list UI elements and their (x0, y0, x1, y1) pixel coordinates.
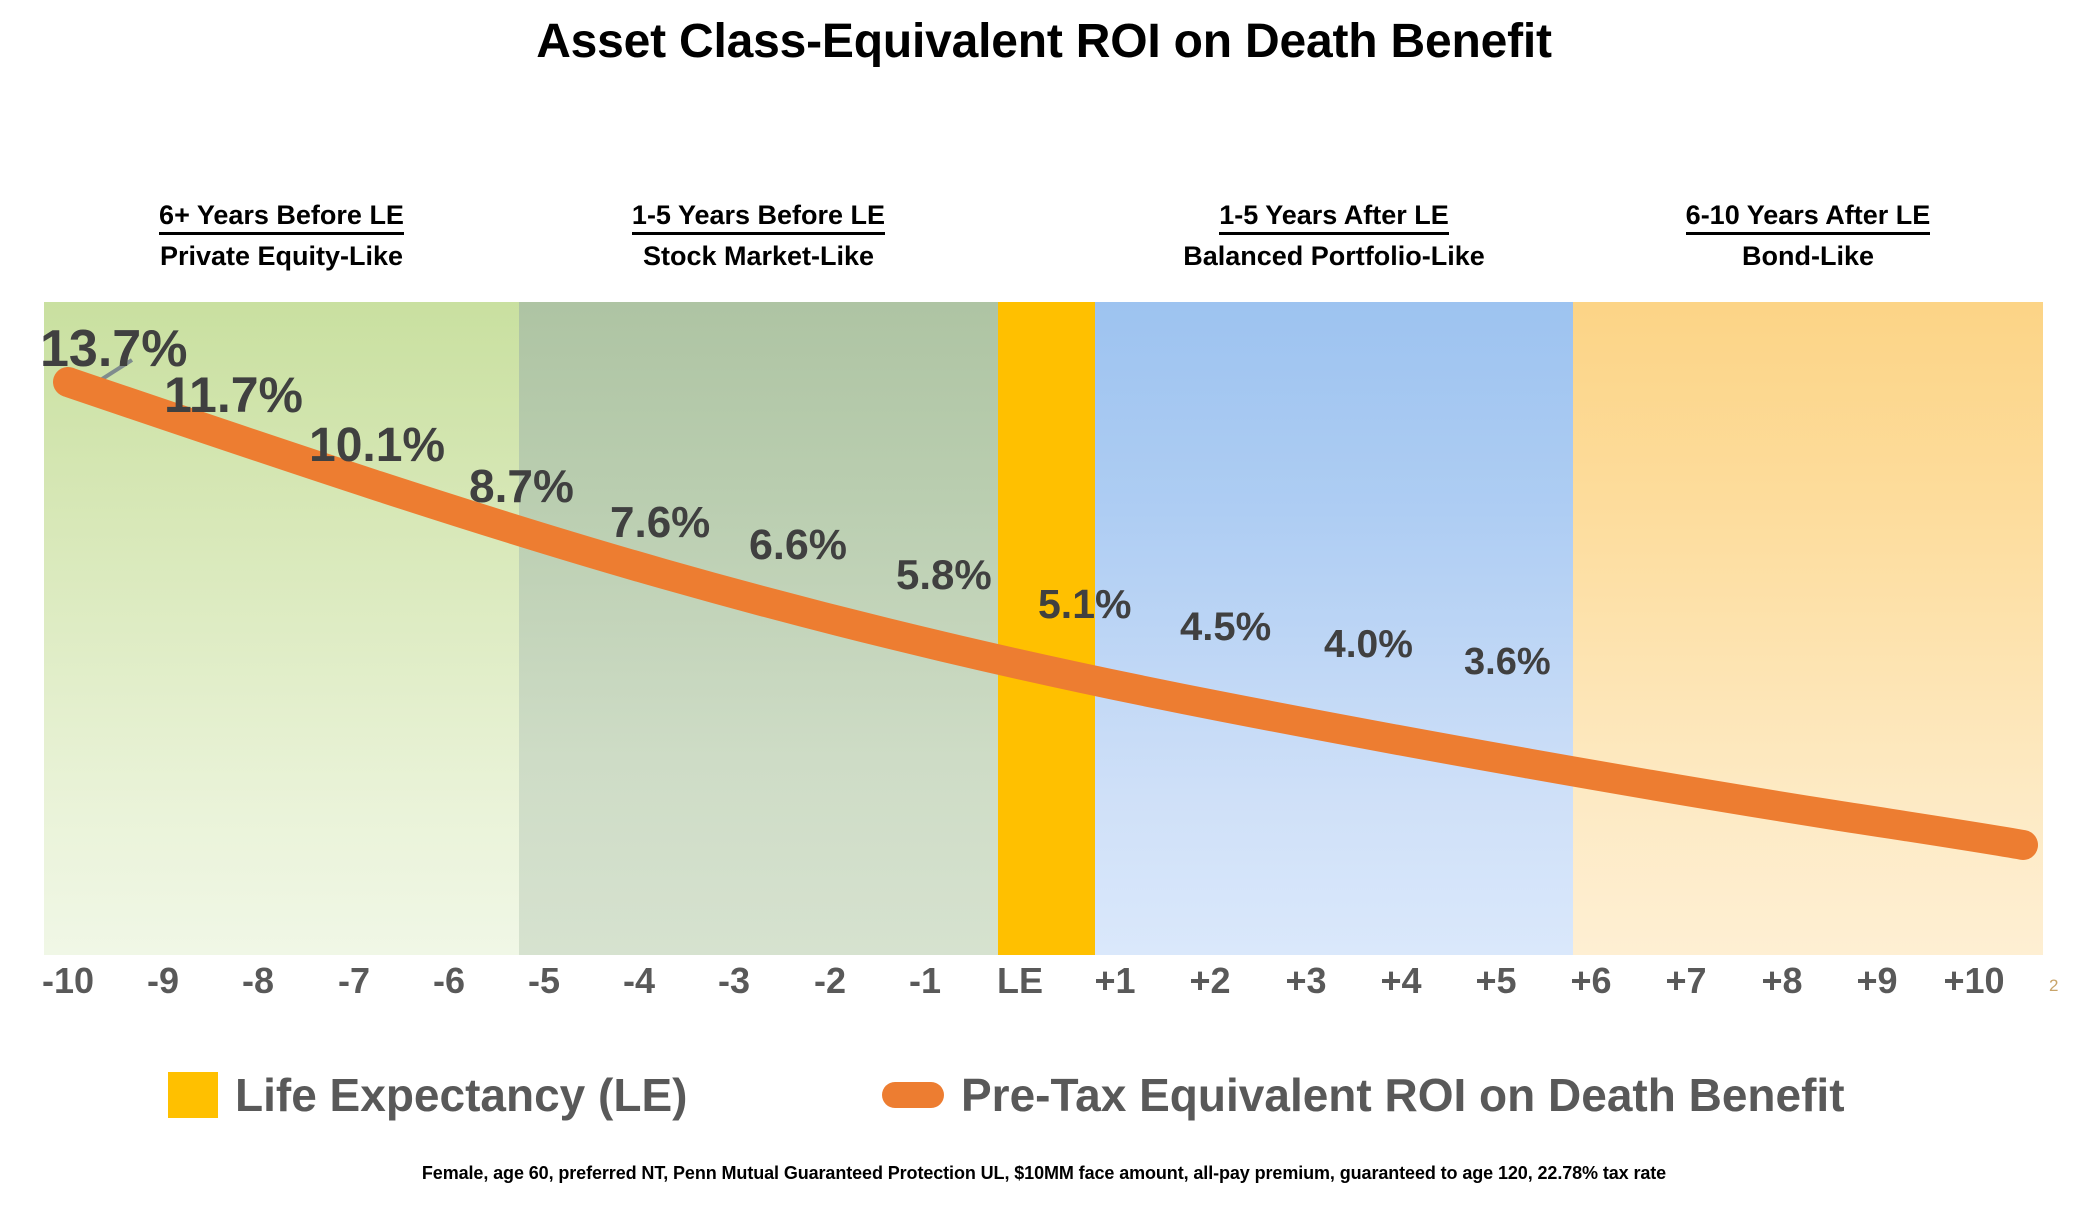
section-subheading: Bond-Like (1573, 241, 2043, 272)
x-tick: +3 (1258, 963, 1354, 999)
data-label-point: 8.7% (469, 463, 574, 509)
legend-item-life-expectancy[interactable]: Life Expectancy (LE) (168, 1072, 687, 1118)
x-tick: -5 (496, 963, 592, 999)
legend-item-label: Life Expectancy (LE) (235, 1072, 687, 1118)
data-label-point: 6.6% (749, 524, 847, 567)
section-heading: 6-10 Years After LE (1686, 200, 1931, 235)
roi-curve (44, 302, 2043, 955)
data-label-point: 11.7% (164, 370, 303, 420)
x-tick: -3 (686, 963, 782, 999)
chart-legend: Life Expectancy (LE) Pre-Tax Equivalent … (0, 1072, 2088, 1134)
section-subheading: Stock Market-Like (519, 241, 998, 272)
x-tick: +7 (1638, 963, 1734, 999)
x-tick: -6 (401, 963, 497, 999)
footnote: Female, age 60, preferred NT, Penn Mutua… (0, 1163, 2088, 1184)
chart-plot-area: 13.7% 11.7% 10.1% 8.7% 7.6% 6.6% 5.8% 5.… (44, 302, 2043, 955)
section-header-balanced-portfolio: 1-5 Years After LE Balanced Portfolio-Li… (1095, 200, 1573, 272)
x-tick: LE (972, 963, 1068, 999)
legend-line-icon (882, 1082, 944, 1108)
data-label-point: 4.5% (1180, 607, 1271, 647)
data-label-point: 10.1% (309, 422, 445, 470)
x-tick: +2 (1162, 963, 1258, 999)
section-header-private-equity: 6+ Years Before LE Private Equity-Like (44, 200, 519, 272)
section-subheading: Balanced Portfolio-Like (1095, 241, 1573, 272)
x-tick: -7 (306, 963, 402, 999)
legend-item-roi-curve[interactable]: Pre-Tax Equivalent ROI on Death Benefit (882, 1072, 1845, 1118)
x-tick: -1 (877, 963, 973, 999)
slide-canvas: Asset Class-Equivalent ROI on Death Bene… (0, 0, 2088, 1218)
x-tick: +5 (1448, 963, 1544, 999)
section-heading: 1-5 Years After LE (1219, 200, 1449, 235)
x-tick: +9 (1829, 963, 1925, 999)
page-number: 2 (2049, 977, 2058, 994)
data-label-point: 7.6% (610, 501, 710, 545)
x-tick: +1 (1067, 963, 1163, 999)
page-title: Asset Class-Equivalent ROI on Death Bene… (0, 14, 2088, 69)
section-subheading: Private Equity-Like (44, 241, 519, 272)
section-header-bond: 6-10 Years After LE Bond-Like (1573, 200, 2043, 272)
legend-item-label: Pre-Tax Equivalent ROI on Death Benefit (961, 1072, 1845, 1118)
section-heading: 6+ Years Before LE (159, 200, 404, 235)
x-tick: +10 (1926, 963, 2022, 999)
x-tick: +6 (1543, 963, 1639, 999)
data-label-point: 5.1% (1038, 584, 1131, 625)
x-tick: +8 (1734, 963, 1830, 999)
x-tick: +4 (1353, 963, 1449, 999)
x-tick: -8 (210, 963, 306, 999)
section-header-stock-market: 1-5 Years Before LE Stock Market-Like (519, 200, 998, 272)
x-tick: -4 (591, 963, 687, 999)
x-tick: -10 (20, 963, 116, 999)
x-axis: -10 -9 -8 -7 -6 -5 -4 -3 -2 -1 LE +1 +2 … (44, 963, 2043, 1019)
data-label-point: 4.0% (1324, 625, 1413, 664)
data-label-point: 5.8% (896, 554, 992, 596)
legend-swatch-icon (168, 1072, 218, 1118)
data-label-point: 3.6% (1464, 643, 1551, 681)
section-heading: 1-5 Years Before LE (632, 200, 885, 235)
x-tick: -9 (115, 963, 211, 999)
x-tick: -2 (782, 963, 878, 999)
